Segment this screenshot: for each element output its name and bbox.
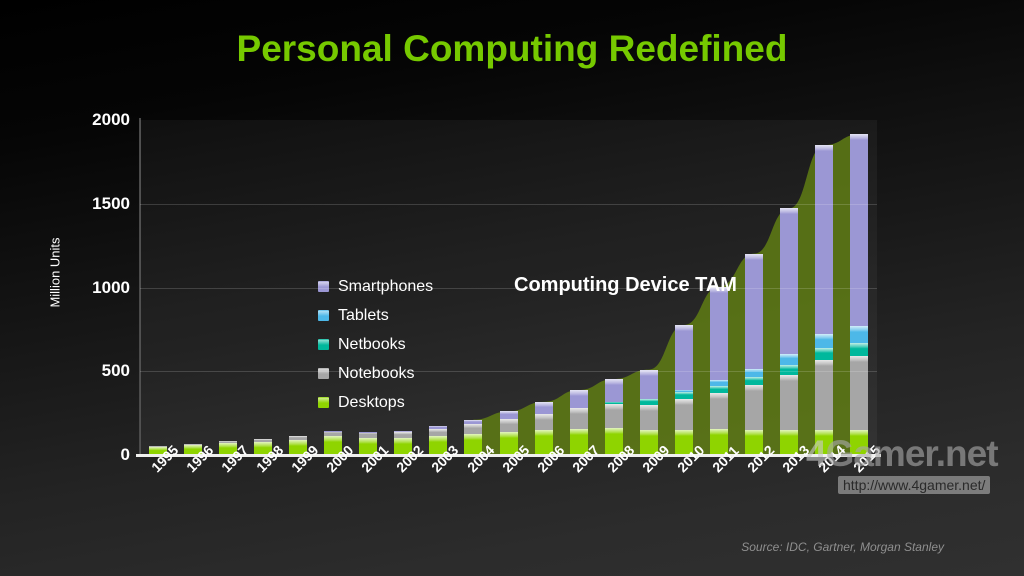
bar-segment (429, 426, 447, 428)
bar-segment (464, 424, 482, 434)
legend-label: Desktops (338, 394, 405, 412)
plot-area: SmartphonesTabletsNetbooksNotebooksDeskt… (140, 120, 877, 455)
bar-segment (815, 360, 833, 430)
bar-column[interactable] (850, 134, 868, 455)
legend-label: Notebooks (338, 365, 415, 383)
bar-segment (815, 348, 833, 360)
bar-segment (640, 399, 658, 405)
bar-segment (359, 432, 377, 433)
bar-segment (745, 385, 763, 429)
legend-item[interactable]: Netbooks (318, 330, 433, 359)
bar-column[interactable] (745, 254, 763, 455)
legend-swatch-icon (318, 368, 329, 379)
legend-label: Smartphones (338, 278, 433, 296)
bar-segment (710, 386, 728, 394)
bar-segment (394, 432, 412, 438)
chart-legend: SmartphonesTabletsNetbooksNotebooksDeskt… (318, 272, 433, 417)
page-title: Personal Computing Redefined (0, 28, 1024, 70)
bar-segment (500, 419, 518, 432)
legend-item[interactable]: Smartphones (318, 272, 433, 301)
bar-segment (640, 370, 658, 399)
legend-item[interactable]: Desktops (318, 388, 433, 417)
y-tick-label: 0 (70, 445, 130, 465)
bar-segment (815, 145, 833, 334)
bar-segment (675, 325, 693, 389)
bar-column[interactable] (675, 325, 693, 455)
legend-item[interactable]: Notebooks (318, 359, 433, 388)
bar-segment (219, 441, 237, 443)
bar-segment (535, 402, 553, 414)
bar-segment (780, 375, 798, 430)
watermark-url: http://www.4gamer.net/ (838, 476, 990, 494)
watermark-brand-prefix: 4 (806, 433, 826, 474)
bar-segment (605, 402, 623, 404)
legend-swatch-icon (318, 281, 329, 292)
legend-item[interactable]: Tablets (318, 301, 433, 330)
bar-column[interactable] (605, 379, 623, 455)
bar-segment (640, 405, 658, 430)
bar-segment (500, 411, 518, 419)
slide-canvas: Personal Computing Redefined Million Uni… (0, 0, 1024, 576)
bar-segment (464, 420, 482, 424)
bar-segment (710, 380, 728, 385)
grid-line (140, 204, 877, 205)
grid-line (140, 288, 877, 289)
y-tick-label: 500 (70, 361, 130, 381)
bar-column[interactable] (780, 208, 798, 455)
bar-segment (605, 404, 623, 428)
bar-segment (710, 287, 728, 381)
bar-segment (850, 343, 868, 356)
legend-swatch-icon (318, 339, 329, 350)
watermark-logo: 4Gamer.net (806, 433, 1021, 475)
bar-segment (535, 414, 553, 430)
y-tick-label: 2000 (70, 110, 130, 130)
legend-swatch-icon (318, 310, 329, 321)
bar-column[interactable] (815, 145, 833, 455)
bar-segment (324, 431, 342, 432)
watermark-brand-rest: Gamer.net (826, 433, 998, 474)
grid-line (140, 371, 877, 372)
bar-segment (605, 379, 623, 402)
source-note: Source: IDC, Gartner, Morgan Stanley (0, 540, 944, 554)
bar-segment (570, 408, 588, 428)
bar-segment (745, 377, 763, 385)
bar-segment (780, 354, 798, 364)
x-axis-ticks: 1995199619971998199920002001200220032004… (140, 458, 877, 528)
y-tick-label: 1000 (70, 278, 130, 298)
bar-segment (254, 439, 272, 442)
y-axis-title: Million Units (48, 198, 63, 348)
bar-segment (675, 390, 693, 392)
bar-segment (675, 399, 693, 430)
bar-column[interactable] (570, 390, 588, 455)
bar-segment (780, 365, 798, 375)
bar-segment (324, 431, 342, 436)
bar-segment (850, 356, 868, 430)
legend-label: Netbooks (338, 336, 406, 354)
bar-segment (675, 392, 693, 399)
bar-segment (570, 390, 588, 408)
bar-segment (815, 334, 833, 347)
bar-segment (394, 431, 412, 432)
bar-segment (289, 436, 307, 440)
bar-segment (780, 208, 798, 354)
bar-segment (184, 444, 202, 446)
bar-segment (850, 134, 868, 326)
y-axis-ticks: 0500100015002000 (62, 120, 130, 455)
bar-segment (429, 429, 447, 437)
legend-swatch-icon (318, 397, 329, 408)
bar-column[interactable] (640, 370, 658, 455)
y-tick-label: 1500 (70, 194, 130, 214)
bar-segment (359, 432, 377, 437)
bar-segment (850, 326, 868, 343)
bar-segment (745, 254, 763, 370)
chart-title: Computing Device TAM (514, 274, 737, 297)
bar-segment (710, 393, 728, 429)
legend-label: Tablets (338, 307, 389, 325)
